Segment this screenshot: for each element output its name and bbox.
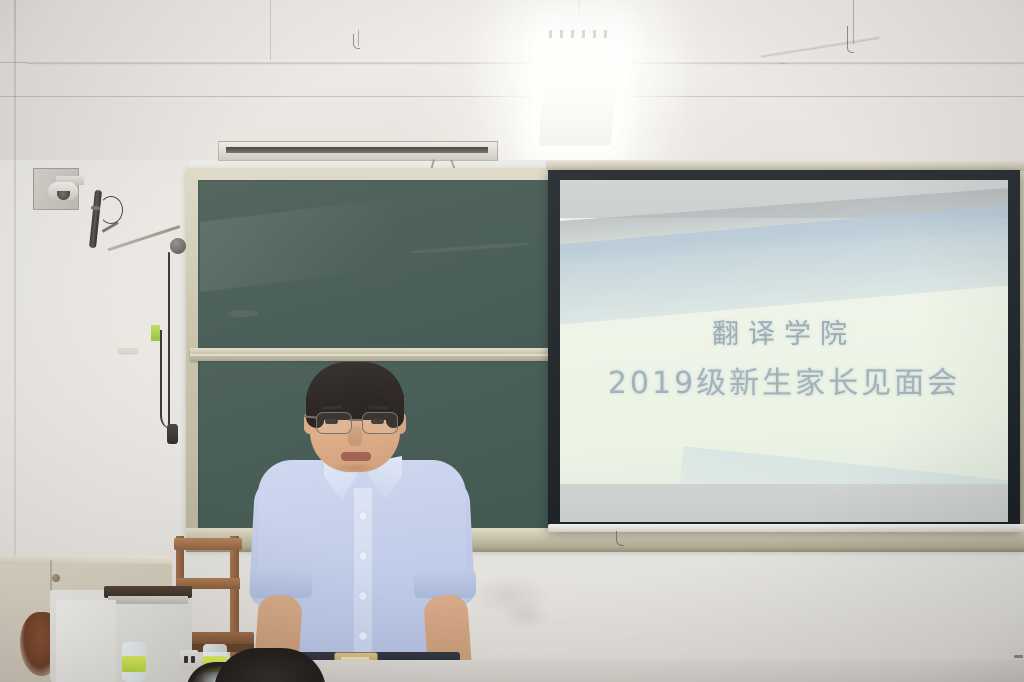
- slide-bottom-band: [560, 484, 1008, 522]
- slide-title: 翻译学院: [560, 312, 1008, 351]
- water-bottle-label: [122, 656, 146, 672]
- classroom-photo-scene: 翻译学院 2019级新生家长见面会: [0, 0, 1024, 682]
- microphone-pivot-mount[interactable]: [170, 238, 186, 254]
- podium-top-surface: [0, 556, 172, 564]
- equipment-case-front: [56, 600, 116, 682]
- presenter-person: [238, 360, 488, 682]
- podium-screw: [52, 574, 60, 582]
- nose: [348, 426, 362, 446]
- lamp-ribs: [549, 30, 610, 38]
- slide-subtitle: 2019级新生家长见面会: [560, 358, 1008, 402]
- blackboard-chalk-streak: [228, 310, 258, 317]
- ceiling-conduit: [780, 60, 1024, 63]
- ceiling: [0, 0, 1024, 162]
- shirt-button: [359, 512, 367, 520]
- wall-power-socket[interactable]: [180, 650, 198, 670]
- hanging-fluorescent-lamp: [539, 24, 620, 146]
- wall-sticker: [151, 325, 160, 341]
- glasses-lens-right: [362, 412, 398, 434]
- sleeve-left: [250, 570, 312, 598]
- ceiling-hook-icon: [353, 34, 360, 49]
- ceiling-seam: [0, 96, 1024, 97]
- shirt-button: [359, 632, 367, 640]
- screen-pull-hook-icon[interactable]: [616, 531, 624, 546]
- microphone-ring: [91, 206, 100, 211]
- equipment-case-rim: [108, 596, 188, 604]
- wall-mark: [1014, 655, 1023, 658]
- socket-hole: [191, 656, 195, 663]
- mouth: [341, 452, 371, 461]
- chin-shadow: [332, 462, 378, 474]
- socket-hole: [184, 656, 188, 663]
- slide-body: [560, 218, 1008, 484]
- shirt-button: [359, 592, 367, 600]
- board-fluorescent-tube: [226, 147, 488, 153]
- microphone-plug: [167, 424, 178, 444]
- sleeve-right: [414, 570, 476, 598]
- ceiling-hook-icon: [847, 26, 854, 53]
- chair-top-slat: [174, 538, 242, 550]
- microphone-cable: [160, 330, 174, 430]
- wall-hook-icon: [118, 348, 138, 353]
- ceiling-seam: [270, 0, 271, 60]
- wall-smudge: [500, 600, 550, 630]
- projector-screen-surface[interactable]: 翻译学院 2019级新生家长见面会: [560, 180, 1008, 522]
- glasses-lens-left: [316, 412, 352, 434]
- ceiling-conduit: [26, 60, 786, 63]
- shirt-button: [359, 552, 367, 560]
- glasses-bridge: [349, 419, 363, 421]
- microphone-cable-loop: [99, 196, 123, 224]
